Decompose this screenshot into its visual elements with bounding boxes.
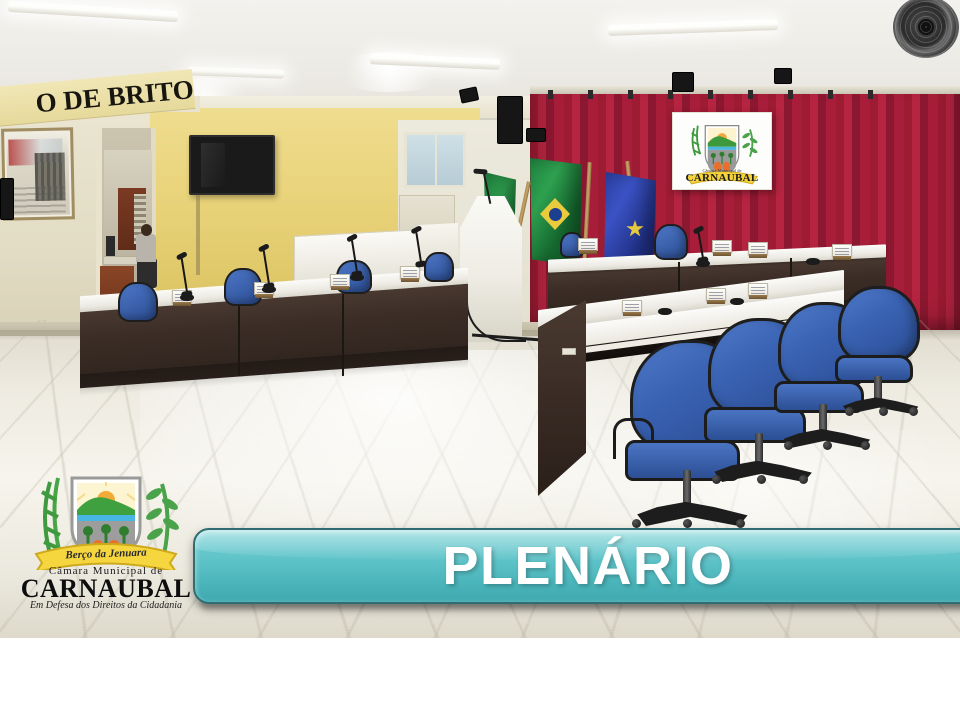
framed-picture-rows: [9, 186, 66, 213]
front-desk-label: [562, 348, 576, 355]
chair-caster: [861, 441, 870, 450]
chair-caster: [757, 475, 766, 484]
curtain-hook: [828, 90, 833, 99]
curtain-rod: [530, 86, 960, 94]
microphone-base: [730, 298, 744, 305]
nameplate-text: [709, 292, 723, 299]
window-pane-divider: [435, 135, 437, 185]
speaker: [526, 128, 546, 142]
nameplate: [400, 266, 420, 279]
office-monitor: [106, 236, 115, 258]
nameplate: [832, 244, 852, 257]
microphone-base: [180, 294, 194, 301]
speaker: [497, 96, 523, 144]
nameplate: [706, 288, 726, 301]
wall-emblem-plaque: Câmara Municipal de CARNAUBAL: [672, 112, 772, 190]
nameplate-text: [403, 270, 417, 277]
chair-caster: [784, 441, 793, 450]
chair-caster: [736, 519, 745, 528]
nameplate-text: [581, 242, 595, 249]
speaker: [0, 178, 14, 220]
microphone-base: [658, 308, 672, 315]
curtain-hook: [748, 90, 753, 99]
curtain-hook: [548, 90, 553, 99]
curtain-hook: [708, 90, 713, 99]
chair-caster: [683, 519, 692, 528]
chair-caster: [909, 407, 918, 416]
nameplate: [330, 274, 350, 287]
speaker: [672, 72, 694, 92]
television-cable: [196, 195, 200, 275]
logo-motto: Em Defesa dos Direitos da Cidadania: [14, 600, 198, 611]
left-desk-seam: [342, 294, 344, 376]
nameplate: [622, 300, 642, 313]
nameplate-text: [715, 244, 729, 251]
nameplate: [712, 240, 732, 253]
curtain-hook: [588, 90, 593, 99]
left-desk-seam: [238, 294, 240, 376]
nameplate-text: [333, 278, 347, 285]
dais-chair: [654, 224, 688, 260]
nameplate: [748, 283, 768, 296]
caption-banner-label: PLENÁRIO: [442, 535, 733, 597]
nameplate-text: [835, 248, 849, 255]
screenshot-root: O DE BRITO: [0, 0, 960, 720]
window: [404, 132, 466, 188]
chair-backrest: [838, 286, 920, 365]
nameplate: [578, 238, 598, 251]
television-screen: [189, 135, 275, 195]
microphone-base: [350, 274, 364, 281]
caption-banner: PLENÁRIO: [193, 528, 960, 604]
plenary-photo: O DE BRITO: [0, 0, 960, 638]
person-head: [141, 224, 152, 236]
curtain-hook: [788, 90, 793, 99]
nameplate-text: [751, 246, 765, 253]
nameplate-text: [625, 304, 639, 311]
curtain-hook: [868, 90, 873, 99]
nameplate-text: [751, 287, 765, 294]
council-logo: Berço da Jenuara Câmara Municipal de CAR…: [14, 470, 198, 620]
plaque-name: CARNAUBAL: [673, 172, 771, 184]
speaker: [774, 68, 792, 84]
microphone-base: [262, 286, 276, 293]
chair-caster: [879, 407, 888, 416]
person-seated: [136, 234, 156, 262]
nameplate: [748, 242, 768, 255]
left-desk-chair: [424, 252, 454, 282]
chair-base: [637, 502, 747, 526]
microphone-base: [806, 258, 820, 265]
office-chair: [838, 286, 920, 414]
left-desk-chair: [118, 282, 158, 322]
chair-caster: [845, 407, 854, 416]
curtain-hook: [628, 90, 633, 99]
